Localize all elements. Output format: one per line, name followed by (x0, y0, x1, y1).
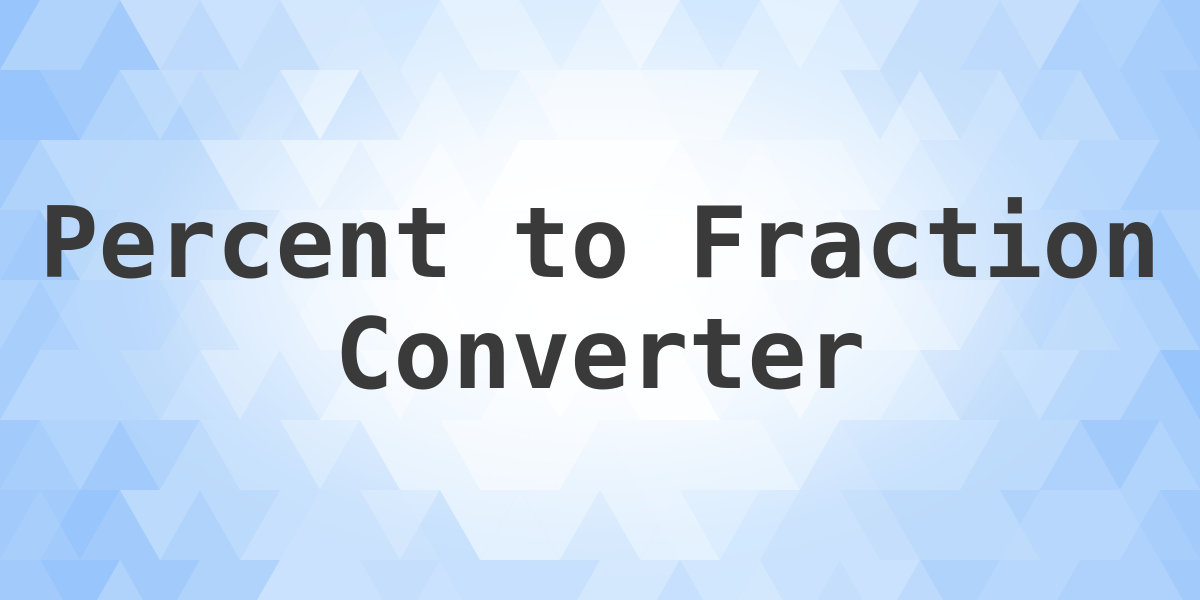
page-title-line-2: Converter (334, 300, 865, 411)
page-title-line-1: Percent to Fraction (39, 189, 1160, 300)
share-banner-card: Percent to Fraction Converter (0, 0, 1200, 600)
page-title: Percent to Fraction Converter (0, 0, 1200, 600)
